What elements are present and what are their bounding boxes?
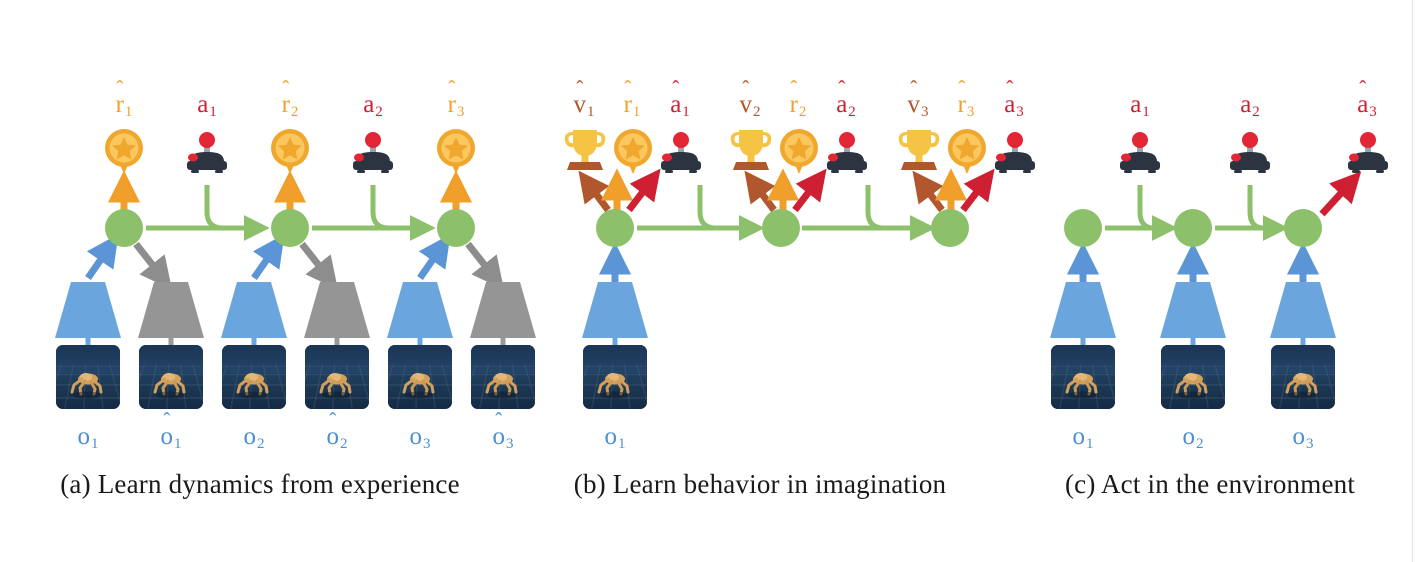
- label-action-2: a2: [363, 92, 383, 120]
- observation-thumbnail: [388, 345, 452, 409]
- observation-thumbnail: [583, 345, 647, 409]
- joystick-icon: [658, 130, 704, 176]
- label-reward-1: ˆr1: [624, 92, 641, 120]
- encoder-trapezoid-icon: [576, 282, 654, 338]
- joystick-icon: [824, 130, 870, 176]
- label-reconstruction-1: ˆo1: [161, 424, 182, 452]
- label-observation-1: o1: [1073, 424, 1094, 452]
- observation-thumbnail: [305, 345, 369, 409]
- observation-thumbnail: [1161, 345, 1225, 409]
- encoder-trapezoid-icon: [1154, 282, 1232, 338]
- recurrent-state-node: [1174, 209, 1212, 247]
- label-action-2: a2: [1240, 92, 1260, 120]
- joystick-icon: [1117, 130, 1163, 176]
- label-action-1: a1: [197, 92, 217, 120]
- observation-thumbnail: [139, 345, 203, 409]
- encoder-trapezoid-icon: [381, 282, 459, 338]
- decoder-trapezoid-icon: [298, 282, 376, 338]
- label-action-2: ˆa2: [836, 92, 856, 120]
- reward-coin-icon: [775, 126, 823, 176]
- page-edge-divider: [1412, 0, 1413, 562]
- label-reward-2: ˆr2: [790, 92, 807, 120]
- observation-thumbnail: [1051, 345, 1115, 409]
- label-reward-2: ˆr2: [282, 92, 299, 120]
- label-reward-1: ˆr1: [116, 92, 133, 120]
- label-observation-1: o1: [605, 424, 626, 452]
- label-observation-2: o2: [244, 424, 265, 452]
- label-action-1: ˆa1: [670, 92, 690, 120]
- trophy-icon: [726, 124, 776, 174]
- reward-coin-icon: [943, 126, 991, 176]
- label-value-2: ˆv2: [740, 92, 761, 120]
- panel-c-caption: (c) Act in the environment: [1000, 469, 1420, 500]
- reward-coin-icon: [432, 126, 480, 176]
- encoder-trapezoid-icon: [1264, 282, 1342, 338]
- label-observation-2: o2: [1183, 424, 1204, 452]
- panel-a-caption: (a) Learn dynamics from experience: [0, 469, 520, 500]
- encoder-trapezoid-icon: [49, 282, 127, 338]
- recurrent-state-node: [1284, 209, 1322, 247]
- trophy-icon: [894, 124, 944, 174]
- observation-thumbnail: [56, 345, 120, 409]
- encoder-trapezoid-icon: [215, 282, 293, 338]
- encoder-trapezoid-icon: [1044, 282, 1122, 338]
- reward-coin-icon: [266, 126, 314, 176]
- label-reconstruction-3: ˆo3: [493, 424, 514, 452]
- joystick-icon: [350, 130, 396, 176]
- label-value-1: ˆv1: [574, 92, 595, 120]
- label-observation-3: o3: [410, 424, 431, 452]
- label-observation-1: o1: [78, 424, 99, 452]
- panel-a-learn-dynamics: ˆr1 a1 ˆr2 a2 ˆr3: [0, 0, 520, 562]
- joystick-icon: [1227, 130, 1273, 176]
- observation-thumbnail: [1271, 345, 1335, 409]
- label-reconstruction-2: ˆo2: [327, 424, 348, 452]
- label-reward-3: ˆr3: [958, 92, 975, 120]
- label-observation-3: o3: [1293, 424, 1314, 452]
- panel-c-act-environment: a1 a2 ˆa3 o1 o: [1000, 0, 1420, 562]
- recurrent-state-node: [931, 209, 969, 247]
- panel-b-caption: (b) Learn behavior in imagination: [520, 469, 1000, 500]
- trophy-icon: [560, 124, 610, 174]
- reward-coin-icon: [609, 126, 657, 176]
- observation-thumbnail: [222, 345, 286, 409]
- joystick-icon: [184, 130, 230, 176]
- dreamer-architecture-figure: ˆr1 a1 ˆr2 a2 ˆr3: [0, 0, 1420, 562]
- label-value-3: ˆv3: [908, 92, 929, 120]
- recurrent-state-node: [105, 209, 143, 247]
- label-reward-3: ˆr3: [448, 92, 465, 120]
- decoder-trapezoid-icon: [132, 282, 210, 338]
- recurrent-state-node: [596, 209, 634, 247]
- label-action-3: ˆa3: [1357, 92, 1377, 120]
- recurrent-state-node: [762, 209, 800, 247]
- panel-b-learn-behavior: ˆv1 ˆr1 ˆa1 ˆv2 ˆr2 ˆa2 ˆv3 ˆr3 ˆa3: [520, 0, 1000, 562]
- recurrent-state-node: [437, 209, 475, 247]
- recurrent-state-node: [1064, 209, 1102, 247]
- reward-coin-icon: [100, 126, 148, 176]
- joystick-icon: [1345, 130, 1391, 176]
- label-action-1: a1: [1130, 92, 1150, 120]
- recurrent-state-node: [271, 209, 309, 247]
